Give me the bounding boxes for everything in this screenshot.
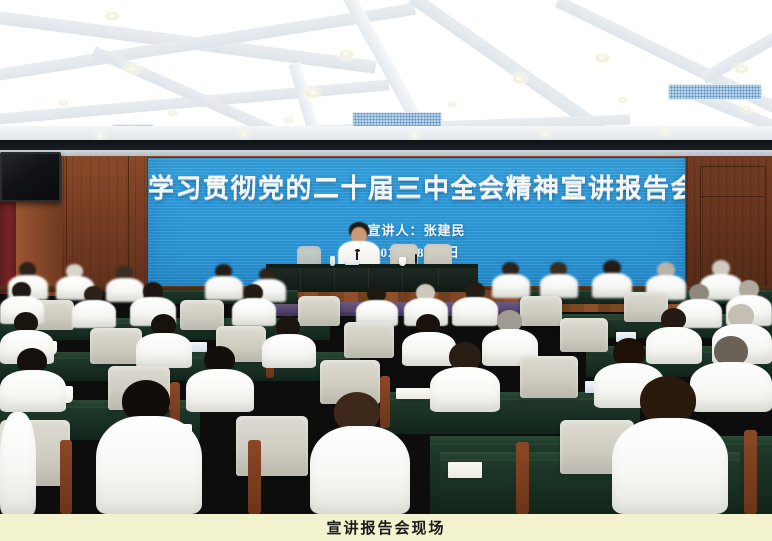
audience-member (262, 316, 316, 368)
audience-seat[interactable] (344, 322, 394, 358)
audience-seat[interactable] (90, 328, 142, 364)
audience-member (0, 348, 66, 412)
audience-member (136, 314, 192, 368)
ceiling-shadow-band (0, 140, 772, 150)
audience-member (540, 262, 578, 298)
head-table-chair[interactable] (297, 246, 321, 266)
microphone (415, 254, 417, 264)
screenshot-root: 学习贯彻党的二十届三中全会精神宣讲报告会 宣讲人：张建民 2024年8月2日 (0, 0, 772, 541)
door-panel-line (700, 196, 764, 197)
audience-member (310, 392, 410, 514)
document-paper (448, 462, 482, 478)
caption-text: 宣讲报告会现场 (326, 517, 445, 538)
chair-arm (516, 442, 529, 514)
head-table-chair[interactable] (424, 244, 452, 266)
audience-member (96, 380, 202, 514)
air-vent-grille (668, 84, 762, 100)
audience-member (0, 412, 36, 514)
water-bottle (330, 256, 335, 266)
audience-seat[interactable] (236, 416, 308, 476)
microphone (355, 249, 360, 252)
audience-member (356, 286, 398, 326)
audience-member (612, 376, 728, 514)
conference-hall-photo: 学习贯彻党的二十届三中全会精神宣讲报告会 宣讲人：张建民 2024年8月2日 (0, 0, 772, 514)
image-caption-bar: 宣讲报告会现场 (0, 514, 772, 541)
drinking-cup (399, 257, 406, 266)
audience-member (72, 286, 116, 328)
audience-seat[interactable] (520, 356, 578, 398)
chair-arm (744, 430, 757, 514)
chair-arm (60, 440, 72, 514)
chair-arm (248, 440, 261, 514)
ceiling (0, 0, 772, 140)
audience-member (430, 342, 500, 412)
wall-mounted-display[interactable] (0, 152, 61, 202)
name-placard (345, 260, 359, 265)
